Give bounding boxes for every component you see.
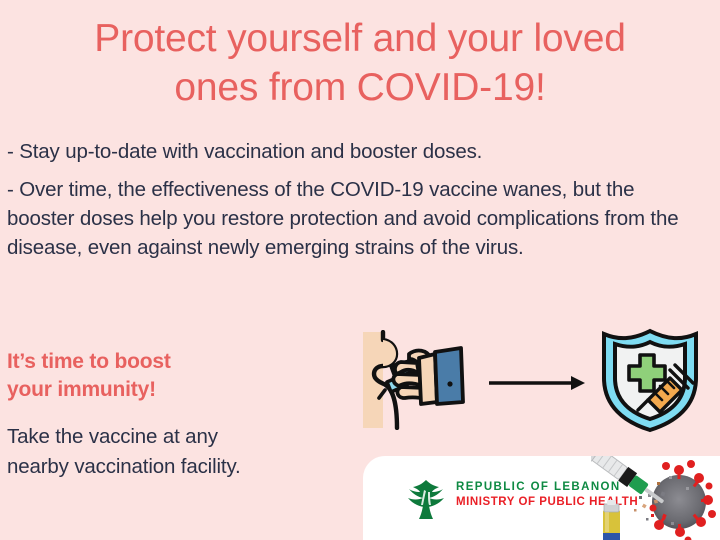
callout-note-line-1: Take the vaccine at any bbox=[7, 422, 337, 452]
poster-body: - Stay up-to-date with vaccination and b… bbox=[7, 137, 697, 271]
syringe-destroying-virus-photo bbox=[591, 456, 720, 540]
lebanon-cedar-tree-icon bbox=[405, 478, 447, 520]
shield-with-cross-and-syringe-icon bbox=[596, 322, 704, 434]
callout-note-line-2: nearby vaccination facility. bbox=[7, 452, 337, 482]
poster-title: Protect yourself and your loved ones fro… bbox=[0, 14, 720, 112]
covid-booster-poster: Protect yourself and your loved ones fro… bbox=[0, 0, 720, 540]
callout-headline-line-1: It’s time to boost bbox=[7, 348, 337, 376]
body-paragraph-2: - Over time, the effectiveness of the CO… bbox=[7, 175, 687, 262]
callout-block: It’s time to boost your immunity! Take t… bbox=[7, 348, 337, 482]
callout-headline-line-2: your immunity! bbox=[7, 376, 337, 404]
body-paragraph-1: - Stay up-to-date with vaccination and b… bbox=[7, 137, 697, 166]
callout-note: Take the vaccine at any nearby vaccinati… bbox=[7, 422, 337, 482]
poster-title-line-1: Protect yourself and your loved bbox=[0, 14, 720, 63]
hand-holding-syringe-icon bbox=[357, 330, 487, 430]
right-arrow-icon bbox=[487, 368, 587, 398]
ministry-card: REPUBLIC OF LEBANON MINISTRY OF PUBLIC H… bbox=[363, 456, 720, 540]
callout-headline: It’s time to boost your immunity! bbox=[7, 348, 337, 404]
poster-title-line-2: ones from COVID-19! bbox=[0, 63, 720, 112]
vaccination-illustration bbox=[357, 330, 487, 430]
